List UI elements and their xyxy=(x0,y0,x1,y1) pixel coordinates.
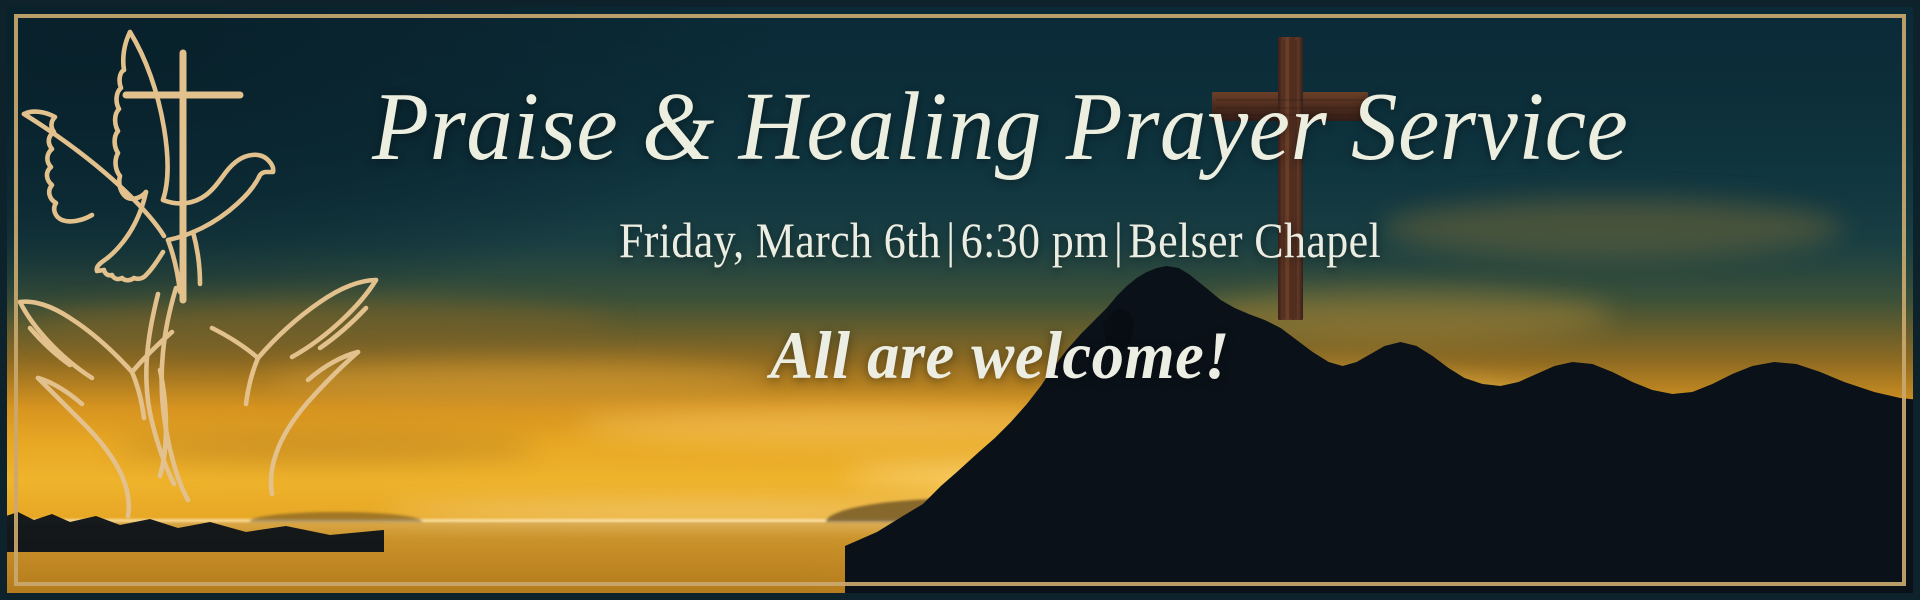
page-title: Praise & Healing Prayer Service xyxy=(372,78,1628,175)
left-land-silhouette xyxy=(0,492,384,552)
detail-separator: | xyxy=(941,212,961,268)
event-location: Belser Chapel xyxy=(1128,212,1381,268)
banner-text-block: Praise & Healing Prayer Service Friday, … xyxy=(330,0,1670,600)
event-details: Friday, March 6th|6:30 pm|Belser Chapel xyxy=(619,213,1381,268)
event-banner: Praise & Healing Prayer Service Friday, … xyxy=(0,0,1920,600)
welcome-message: All are welcome! xyxy=(770,320,1230,391)
event-time: 6:30 pm xyxy=(961,212,1109,268)
detail-separator: | xyxy=(1109,212,1129,268)
event-date: Friday, March 6th xyxy=(619,212,941,268)
